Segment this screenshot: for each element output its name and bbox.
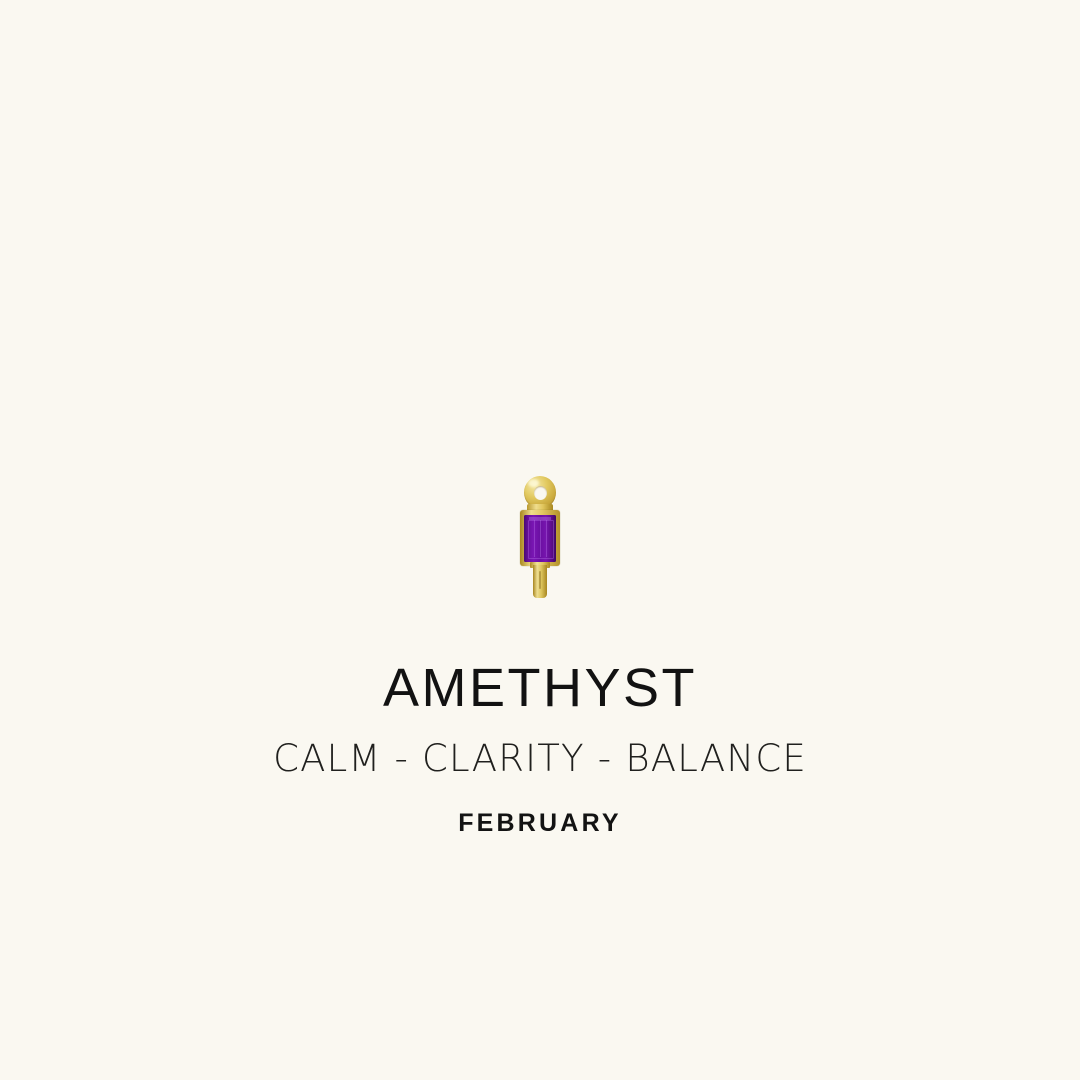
gem-facet-line bbox=[540, 520, 541, 557]
birth-month-label: FEBRUARY bbox=[0, 809, 1080, 838]
stem-shadow-line bbox=[539, 571, 541, 589]
stone-attributes: CALM - CLARITY - BALANCE bbox=[0, 739, 1080, 780]
birthstone-card: AMETHYST CALM - CLARITY - BALANCE FEBRUA… bbox=[0, 0, 1080, 1080]
amethyst-gemstone-icon bbox=[524, 515, 556, 562]
gem-facet-line bbox=[534, 520, 535, 557]
gem-bezel-setting bbox=[520, 510, 560, 566]
stone-name: AMETHYST bbox=[0, 660, 1080, 717]
text-block: AMETHYST CALM - CLARITY - BALANCE FEBRUA… bbox=[0, 660, 1080, 838]
bail-hole bbox=[534, 486, 547, 500]
charm-illustration-wrap bbox=[0, 466, 1080, 606]
birthstone-charm[interactable] bbox=[500, 466, 580, 600]
gem-facet-line bbox=[546, 520, 547, 557]
charm-stem bbox=[533, 565, 547, 598]
